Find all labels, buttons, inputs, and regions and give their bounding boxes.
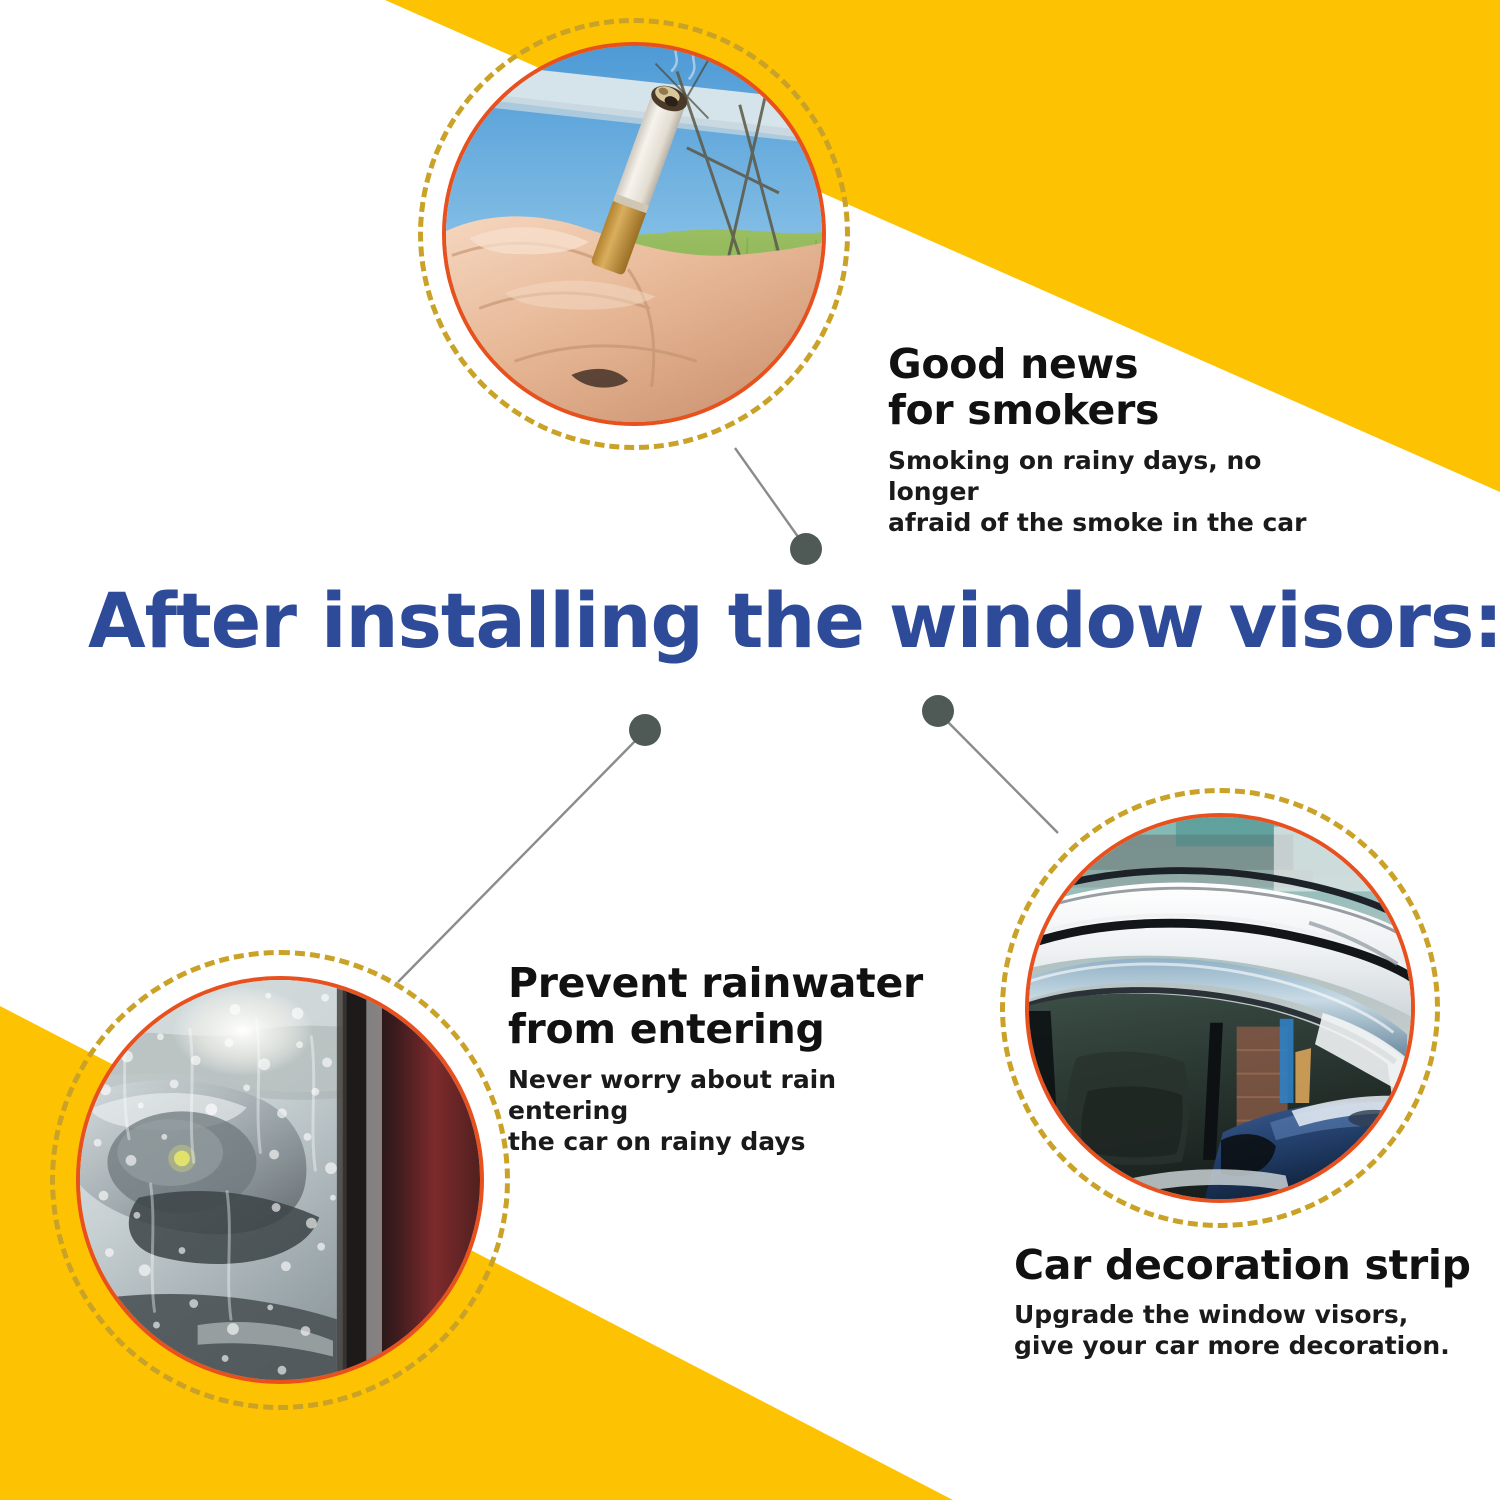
connector-dot-smokers xyxy=(790,533,822,565)
feature-block-rainwater: Prevent rainwater from entering Never wo… xyxy=(508,960,938,1157)
feature-subtitle-smokers: Smoking on rainy days, no longer afraid … xyxy=(888,445,1358,538)
photo-bubble-rainwater xyxy=(50,950,510,1410)
infographic-page: Good news for smokers Smoking on rainy d… xyxy=(0,0,1500,1500)
connector-line-smokers xyxy=(735,448,806,548)
photo-bubble-smokers xyxy=(418,18,850,450)
photo-rainwater xyxy=(76,976,484,1384)
connector-line-rainwater xyxy=(398,731,645,982)
feature-subtitle-rainwater: Never worry about rain entering the car … xyxy=(508,1064,938,1157)
feature-title-smokers: Good news for smokers xyxy=(888,341,1358,434)
connector-line-decoration xyxy=(938,712,1058,833)
connector-dot-decoration xyxy=(922,695,954,727)
feature-block-decoration: Car decoration strip Upgrade the window … xyxy=(1014,1242,1484,1361)
photo-smokers xyxy=(442,42,826,426)
feature-title-decoration: Car decoration strip xyxy=(1014,1242,1484,1288)
feature-title-rainwater: Prevent rainwater from entering xyxy=(508,960,938,1053)
connector-dot-rainwater xyxy=(629,714,661,746)
page-headline: After installing the window visors: xyxy=(88,583,1401,659)
photo-bubble-decoration xyxy=(1000,788,1440,1228)
feature-subtitle-decoration: Upgrade the window visors, give your car… xyxy=(1014,1299,1484,1361)
feature-block-smokers: Good news for smokers Smoking on rainy d… xyxy=(888,341,1358,538)
photo-decoration xyxy=(1025,813,1415,1203)
